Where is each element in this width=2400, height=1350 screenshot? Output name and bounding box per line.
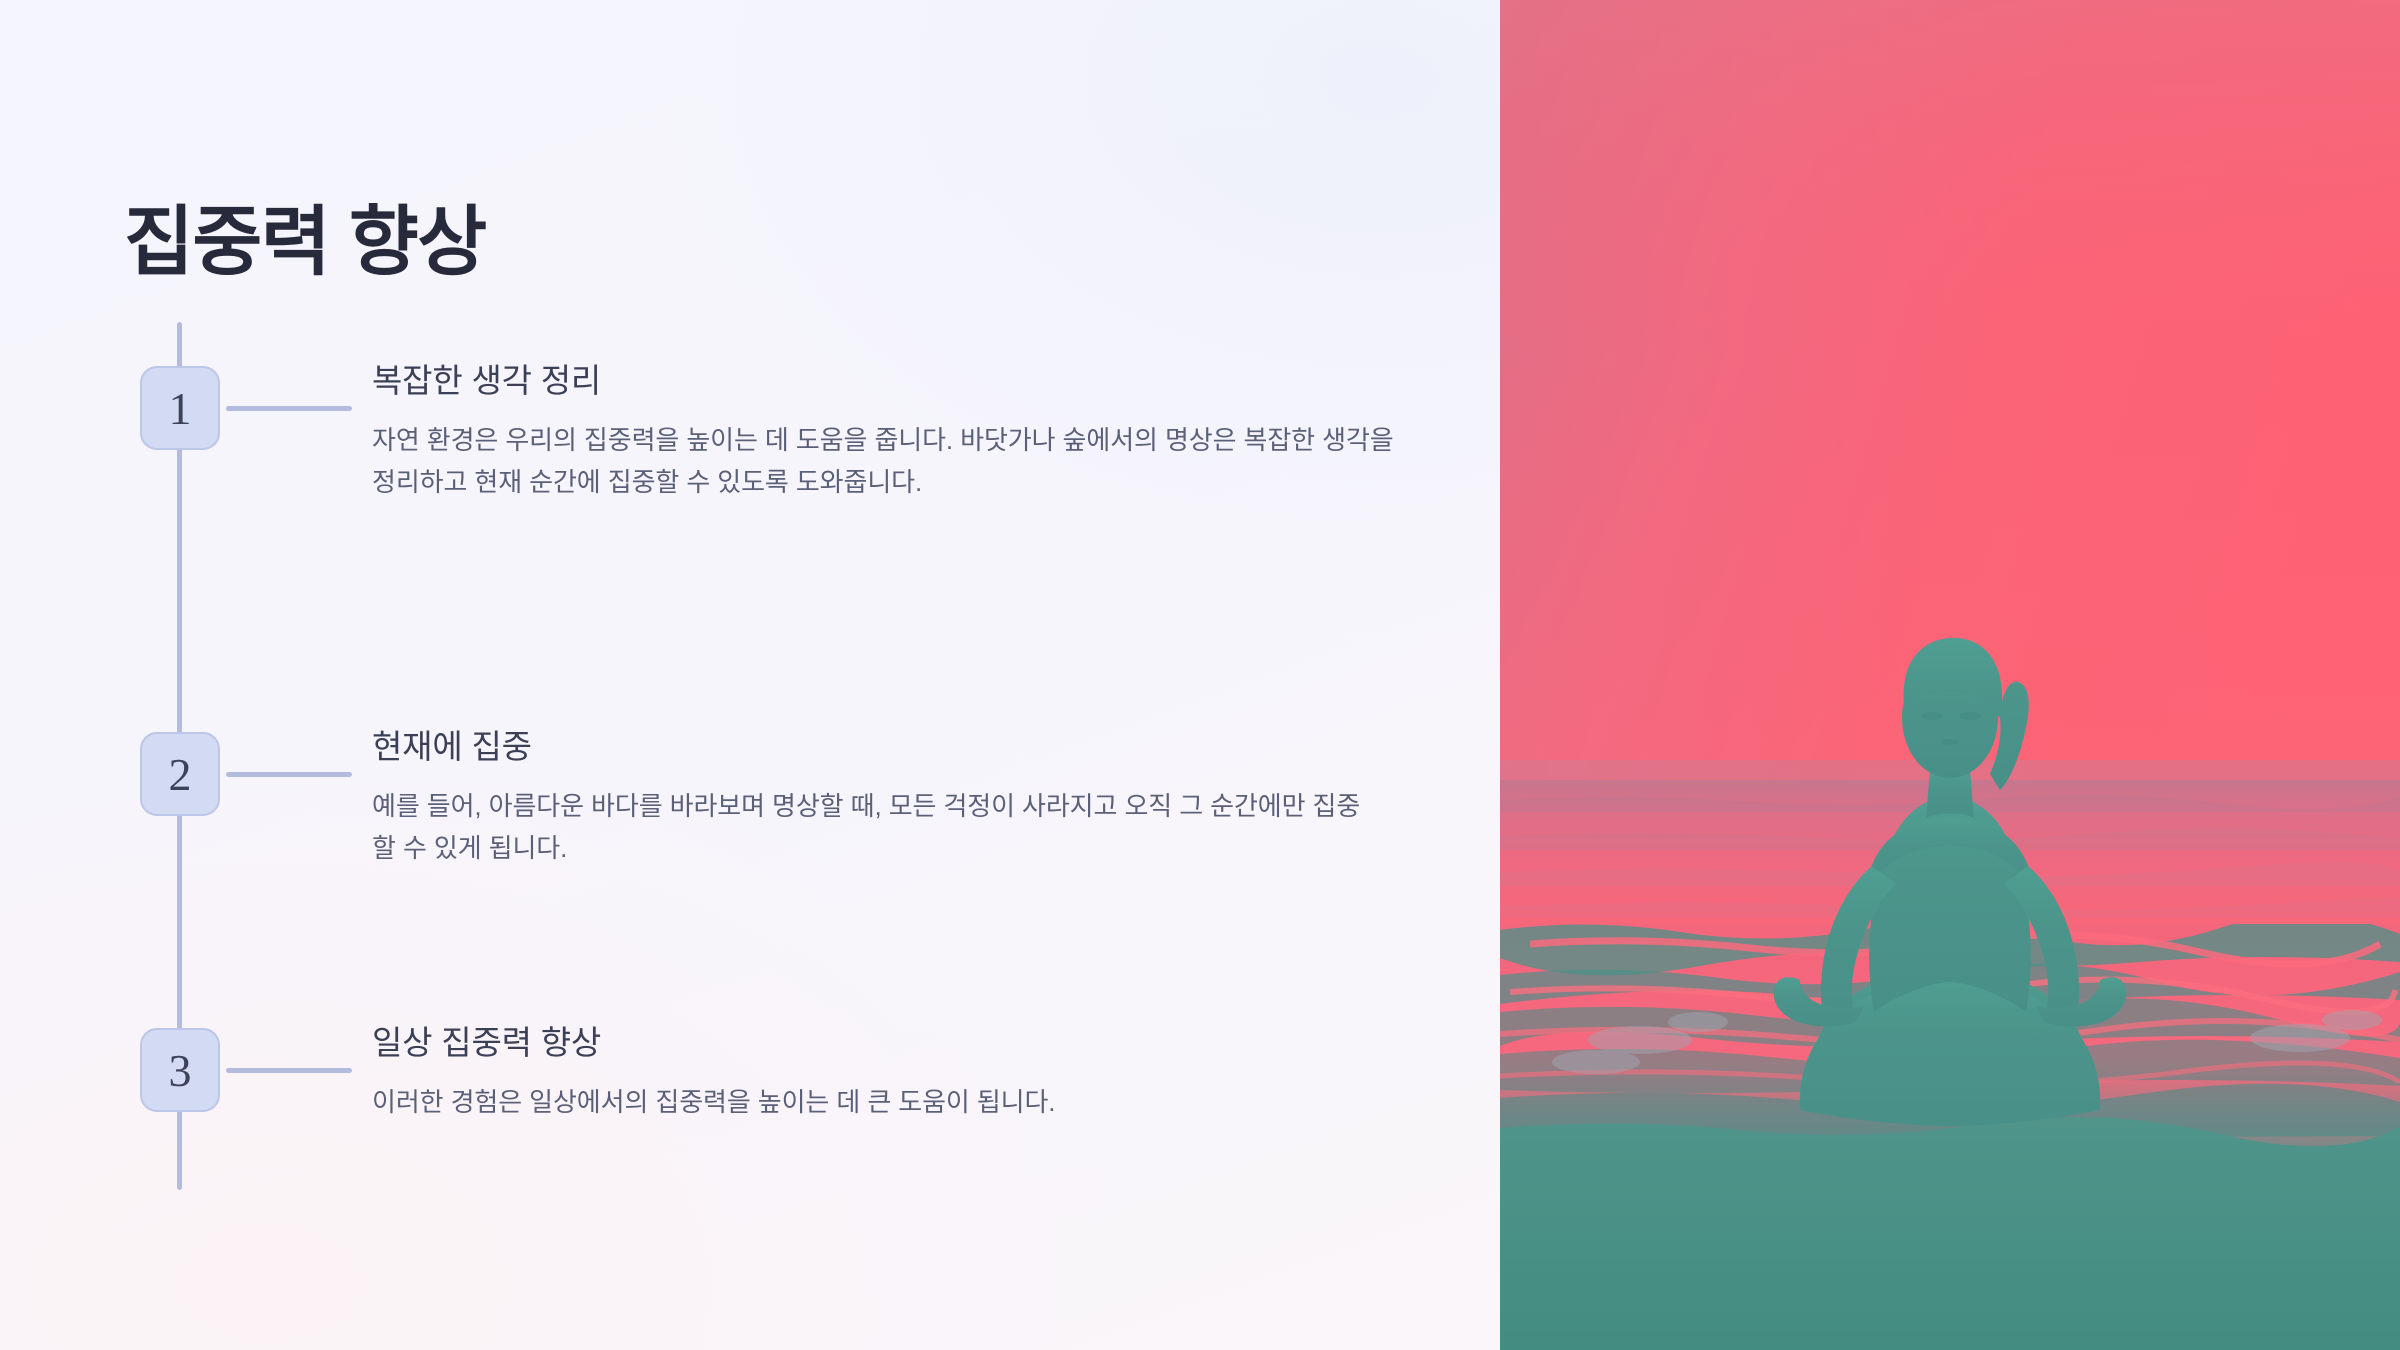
content-panel: 집중력 향상 1 복잡한 생각 정리 자연 환경은 우리의 집중력을 높이는 데…: [0, 0, 1500, 1350]
step-body-3: 일상 집중력 향상 이러한 경험은 일상에서의 집중력을 높이는 데 큰 도움이…: [372, 1022, 1412, 1123]
step-number-badge-3[interactable]: 3: [140, 1028, 220, 1112]
meditation-illustration-svg: [1500, 0, 2400, 1350]
step-connector-line-1: [226, 406, 352, 411]
step-heading-3: 일상 집중력 향상: [372, 1022, 1412, 1065]
meditation-image: [1500, 0, 2400, 1350]
step-number-badge-2[interactable]: 2: [140, 732, 220, 816]
step-number-badge-1[interactable]: 1: [140, 366, 220, 450]
step-body-1: 복잡한 생각 정리 자연 환경은 우리의 집중력을 높이는 데 도움을 줍니다.…: [372, 360, 1412, 503]
timeline: 1 복잡한 생각 정리 자연 환경은 우리의 집중력을 높이는 데 도움을 줍니…: [0, 0, 1500, 1350]
step-connector-line-3: [226, 1068, 352, 1073]
slide-root: 집중력 향상 1 복잡한 생각 정리 자연 환경은 우리의 집중력을 높이는 데…: [0, 0, 2400, 1350]
step-heading-1: 복잡한 생각 정리: [372, 360, 1412, 403]
step-connector-line-2: [226, 772, 352, 777]
step-text-3: 이러한 경험은 일상에서의 집중력을 높이는 데 큰 도움이 됩니다.: [372, 1081, 1412, 1123]
step-heading-2: 현재에 집중: [372, 726, 1382, 769]
step-text-2: 예를 들어, 아름다운 바다를 바라보며 명상할 때, 모든 걱정이 사라지고 …: [372, 785, 1382, 869]
step-body-2: 현재에 집중 예를 들어, 아름다운 바다를 바라보며 명상할 때, 모든 걱정…: [372, 726, 1382, 869]
step-text-1: 자연 환경은 우리의 집중력을 높이는 데 도움을 줍니다. 바닷가나 숲에서의…: [372, 419, 1412, 503]
